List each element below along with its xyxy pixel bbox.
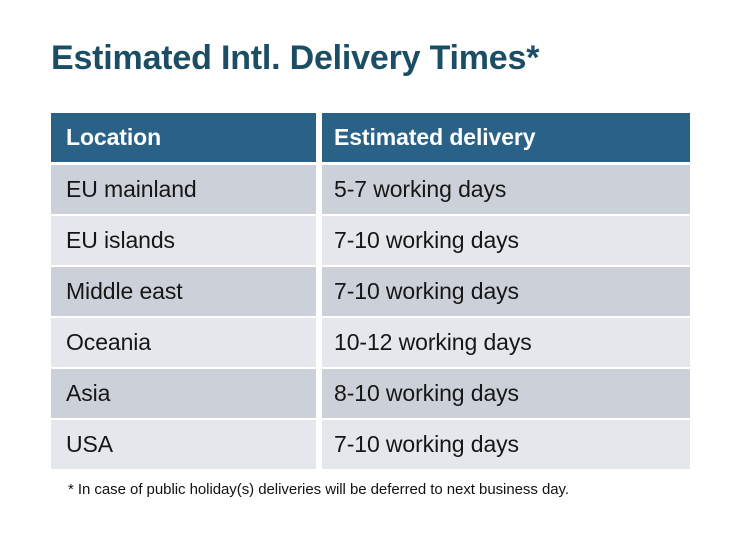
- table-row: EU islands 7-10 working days: [51, 216, 690, 265]
- table-header-row: Location Estimated delivery: [51, 113, 690, 162]
- table-row: Oceania 10-12 working days: [51, 318, 690, 367]
- cell-location: EU islands: [51, 216, 316, 265]
- cell-location: EU mainland: [51, 165, 316, 214]
- cell-location: Middle east: [51, 267, 316, 316]
- cell-delivery: 8-10 working days: [322, 369, 690, 418]
- cell-location: Oceania: [51, 318, 316, 367]
- page-title: Estimated Intl. Delivery Times*: [51, 36, 539, 80]
- cell-delivery: 7-10 working days: [322, 216, 690, 265]
- delivery-times-page: Estimated Intl. Delivery Times* Location…: [0, 0, 745, 536]
- footnote-text: * In case of public holiday(s) deliverie…: [68, 481, 569, 498]
- table-row: EU mainland 5-7 working days: [51, 165, 690, 214]
- delivery-times-table: Location Estimated delivery EU mainland …: [51, 113, 690, 471]
- column-header-estimated-delivery: Estimated delivery: [322, 113, 690, 162]
- table-row: Asia 8-10 working days: [51, 369, 690, 418]
- column-header-location: Location: [51, 113, 316, 162]
- cell-delivery: 5-7 working days: [322, 165, 690, 214]
- cell-delivery: 7-10 working days: [322, 267, 690, 316]
- cell-delivery: 7-10 working days: [322, 420, 690, 469]
- table-row: Middle east 7-10 working days: [51, 267, 690, 316]
- table-row: USA 7-10 working days: [51, 420, 690, 469]
- cell-location: Asia: [51, 369, 316, 418]
- cell-location: USA: [51, 420, 316, 469]
- cell-delivery: 10-12 working days: [322, 318, 690, 367]
